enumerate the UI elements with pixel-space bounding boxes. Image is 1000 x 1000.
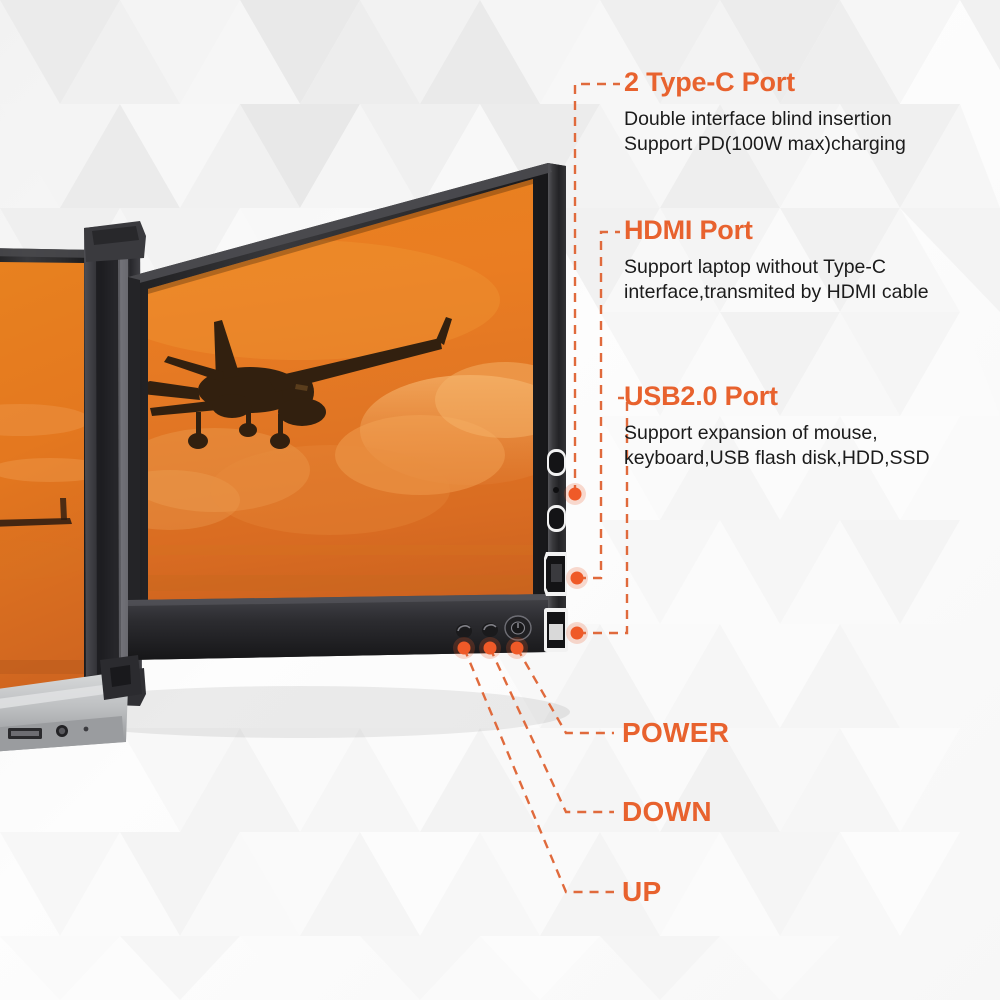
callout-title: 2 Type-C Port: [624, 68, 906, 98]
label-down: DOWN: [622, 796, 712, 828]
callout-body: Support laptop without Type-C interface,…: [624, 255, 929, 306]
callout-body-line: interface,transmited by HDMI cable: [624, 280, 929, 306]
callout-body-line: keyboard,USB flash disk,HDD,SSD: [624, 446, 930, 472]
callout-body-line: Support laptop without Type-C: [624, 255, 929, 281]
callout-body: Double interface blind insertion Support…: [624, 107, 906, 158]
callout-hdmi: HDMI Port Support laptop without Type-C …: [624, 216, 929, 306]
callout-body-line: Support PD(100W max)charging: [624, 132, 906, 158]
callout-title: USB2.0 Port: [624, 382, 930, 412]
label-power: POWER: [622, 717, 729, 749]
callout-type-c: 2 Type-C Port Double interface blind ins…: [624, 68, 906, 158]
callout-usb: USB2.0 Port Support expansion of mouse, …: [624, 382, 930, 472]
callout-body: Support expansion of mouse, keyboard,USB…: [624, 421, 930, 472]
label-up: UP: [622, 876, 662, 908]
callout-body-line: Support expansion of mouse,: [624, 421, 930, 447]
callout-body-line: Double interface blind insertion: [624, 107, 906, 133]
infographic-canvas: 2 Type-C Port Double interface blind ins…: [0, 0, 1000, 1000]
product-photo: [0, 0, 620, 820]
main-monitor: [100, 160, 580, 660]
callout-title: HDMI Port: [624, 216, 929, 246]
